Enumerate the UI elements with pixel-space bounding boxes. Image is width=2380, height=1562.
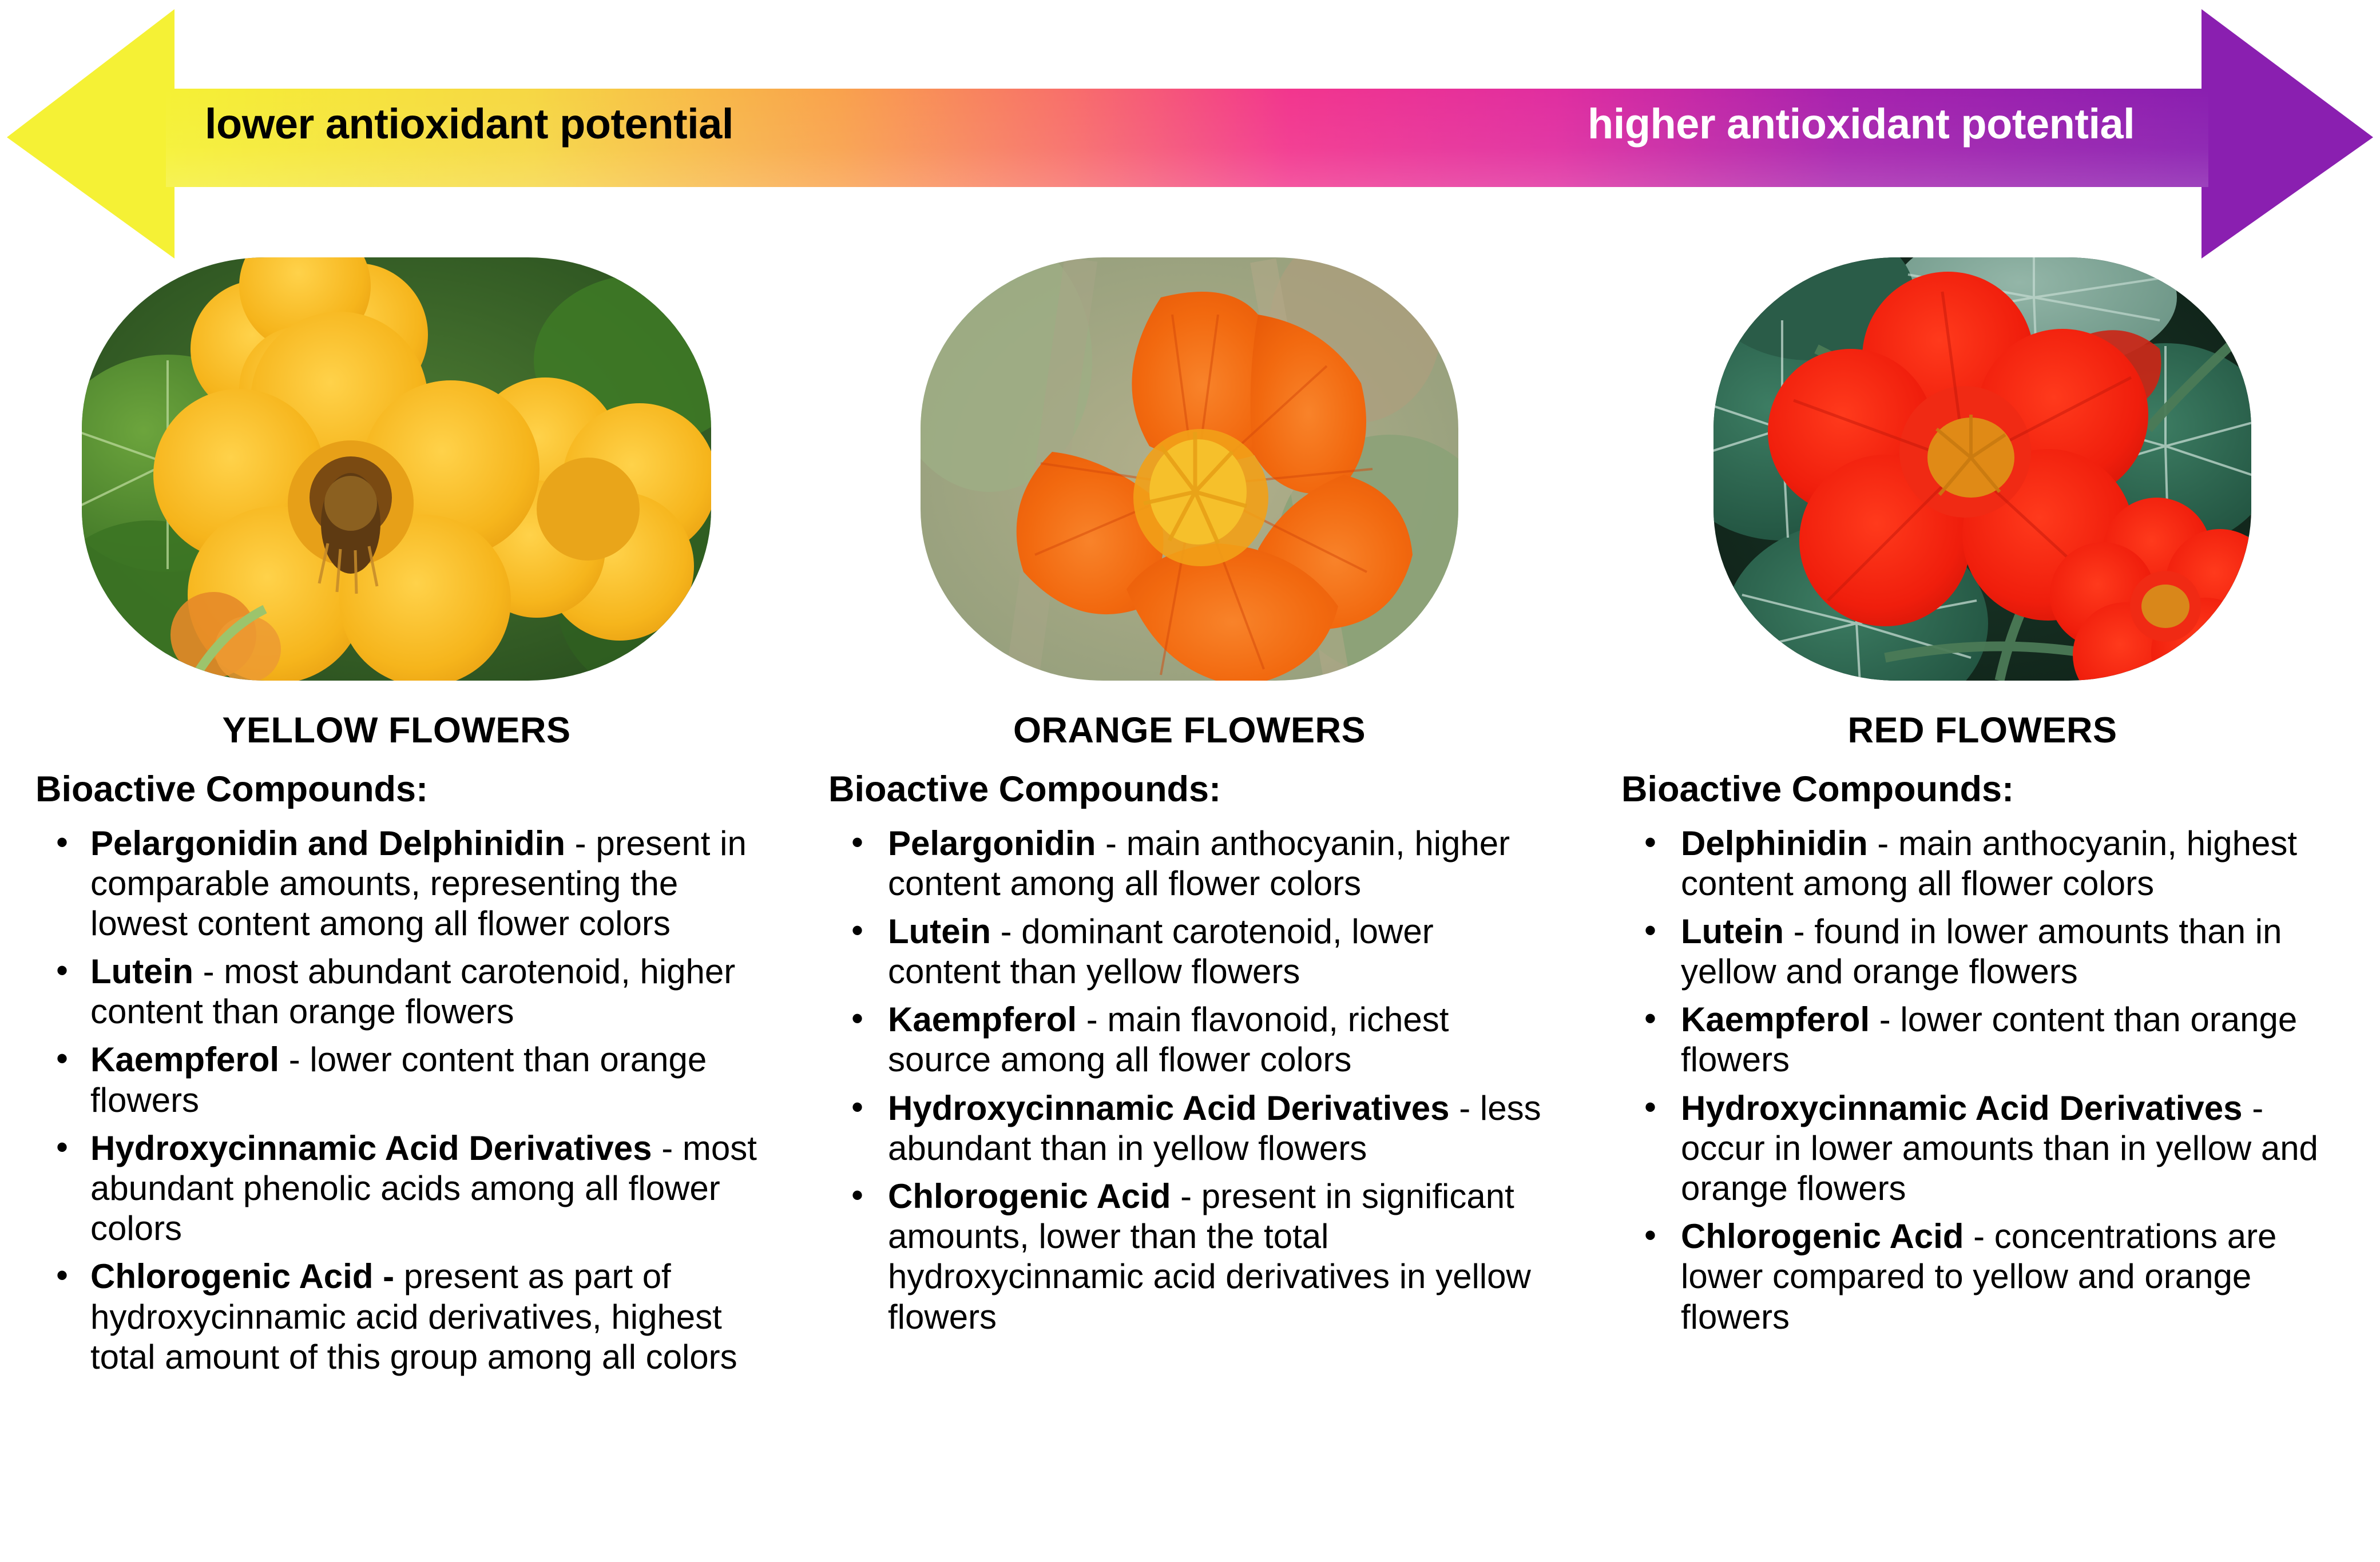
red-flowers-illustration [1713, 257, 2251, 681]
column-yellow-flowers: YELLOW FLOWERS Bioactive Compounds: Pela… [0, 257, 793, 1377]
column-heading-yellow: YELLOW FLOWERS [35, 713, 757, 749]
list-item: Pelargonidin and Delphinidin - present i… [35, 824, 757, 944]
compound-term: Lutein [1681, 912, 1784, 951]
column-heading-red: RED FLOWERS [1621, 713, 2343, 749]
compound-term: Chlorogenic Acid - [90, 1257, 394, 1295]
compound-term: Hydroxycinnamic Acid Derivatives [1681, 1089, 2243, 1127]
yellow-flowers-illustration [82, 257, 711, 681]
list-item: Kaempferol - lower content than orange f… [35, 1040, 757, 1120]
list-item: Hydroxycinnamic Acid Derivatives - occur… [1621, 1088, 2343, 1209]
list-item: Chlorogenic Acid - present as part of hy… [35, 1257, 757, 1377]
column-heading-orange: ORANGE FLOWERS [828, 713, 1550, 749]
photo-wrap-orange [828, 257, 1550, 681]
red-flowers-photo [1713, 257, 2251, 681]
photo-wrap-yellow [35, 257, 757, 681]
subheading-bioactive-compounds-orange: Bioactive Compounds: [828, 769, 1550, 810]
compound-term: Pelargonidin and Delphinidin [90, 824, 565, 863]
orange-flower-illustration [921, 257, 1458, 681]
photo-wrap-red [1621, 257, 2343, 681]
compound-term: Kaempferol [1681, 1000, 1870, 1039]
compound-term: Hydroxycinnamic Acid Derivatives [888, 1089, 1450, 1127]
yellow-flowers-photo [82, 257, 711, 681]
compound-term: Hydroxycinnamic Acid Derivatives [90, 1129, 652, 1167]
arrowhead-left [7, 9, 174, 259]
list-item: Hydroxycinnamic Acid Derivatives - most … [35, 1128, 757, 1249]
antioxidant-gradient-arrow: lower antioxidant potential higher antio… [0, 0, 2380, 263]
column-orange-flowers: ORANGE FLOWERS Bioactive Compounds: Pela… [793, 257, 1586, 1337]
bullet-list-red: Delphinidin - main anthocyanin, highest … [1621, 816, 2343, 1337]
higher-antioxidant-label: higher antioxidant potential [1588, 103, 2135, 145]
compound-term: Lutein [90, 952, 193, 991]
compound-term: Chlorogenic Acid [888, 1177, 1171, 1215]
list-item: Chlorogenic Acid - concentrations are lo… [1621, 1217, 2343, 1337]
bullet-list-yellow: Pelargonidin and Delphinidin - present i… [35, 816, 757, 1377]
subheading-bioactive-compounds-yellow: Bioactive Compounds: [35, 769, 757, 810]
list-item: Hydroxycinnamic Acid Derivatives - less … [828, 1088, 1550, 1168]
list-item: Kaempferol - lower content than orange f… [1621, 1000, 2343, 1080]
compound-term: Lutein [888, 912, 991, 951]
subheading-bioactive-compounds-red: Bioactive Compounds: [1621, 769, 2343, 810]
list-item: Kaempferol - main flavonoid, richest sou… [828, 1000, 1550, 1080]
bullet-list-orange: Pelargonidin - main anthocyanin, higher … [828, 816, 1550, 1337]
list-item: Delphinidin - main anthocyanin, highest … [1621, 824, 2343, 904]
compound-term: Chlorogenic Acid [1681, 1217, 1963, 1255]
compound-term: Kaempferol [90, 1040, 279, 1079]
column-red-flowers: RED FLOWERS Bioactive Compounds: Delphin… [1586, 257, 2379, 1337]
list-item: Lutein - found in lower amounts than in … [1621, 912, 2343, 992]
flower-color-columns: YELLOW FLOWERS Bioactive Compounds: Pela… [0, 257, 2380, 1377]
compound-term: Kaempferol [888, 1000, 1077, 1039]
compound-term: Pelargonidin [888, 824, 1096, 863]
arrowhead-right [2201, 9, 2373, 259]
orange-flower-photo [921, 257, 1458, 681]
lower-antioxidant-label: lower antioxidant potential [205, 103, 733, 145]
list-item: Lutein - dominant carotenoid, lower cont… [828, 912, 1550, 992]
list-item: Chlorogenic Acid - present in significan… [828, 1177, 1550, 1337]
list-item: Lutein - most abundant carotenoid, highe… [35, 952, 757, 1032]
list-item: Pelargonidin - main anthocyanin, higher … [828, 824, 1550, 904]
compound-term: Delphinidin [1681, 824, 1868, 863]
